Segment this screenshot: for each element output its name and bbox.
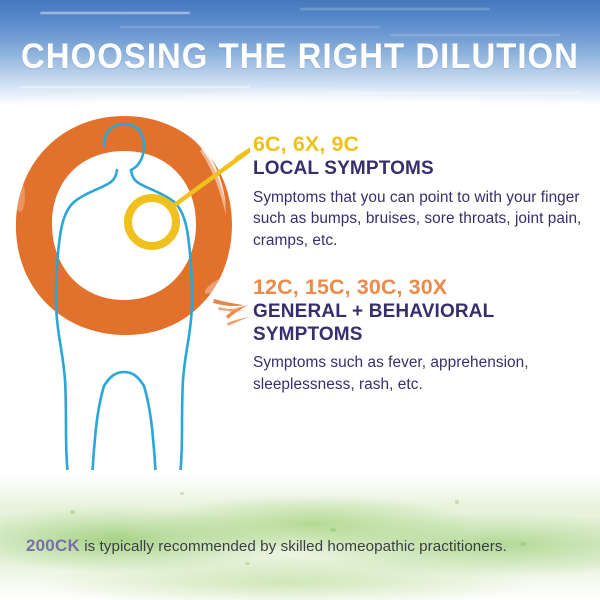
yellow-highlight-circle-on-shoulder [128,198,176,246]
symptom-category-title-local: LOCAL SYMPTOMS [253,158,589,181]
orange-brush-tick [226,305,249,326]
green-speck [180,492,184,495]
dilution-values-general: 12C, 15C, 30C, 30X [253,275,589,300]
footer-green-band [0,470,600,600]
header-cloud-streak [40,12,190,14]
footer-dilution-value: 200CK [26,536,80,555]
header-banner: CHOOSING THE RIGHT DILUTION [0,0,600,104]
green-speck [330,528,336,532]
green-speck [455,500,459,504]
symptom-description-general: Symptoms such as fever, apprehension, sl… [253,352,589,395]
footer-note-text: is typically recommended by skilled home… [80,538,507,555]
footer-note: 200CK is typically recommended by skille… [26,536,586,557]
symptom-description-local: Symptoms that you can point to with your… [253,187,589,252]
dilution-blocks: 6C, 6X, 9C LOCAL SYMPTOMS Symptoms that … [253,132,589,395]
header-cloud-streak [300,8,490,10]
infographic-root: CHOOSING THE RIGHT DILUTION [0,0,600,600]
dilution-block-local: 6C, 6X, 9C LOCAL SYMPTOMS Symptoms that … [253,132,589,251]
symptom-category-title-general: GENERAL + BEHAVIORAL SYMPTOMS [253,301,589,346]
header-cloud-streak [390,34,560,36]
green-speck [70,510,75,514]
page-title: CHOOSING THE RIGHT DILUTION [18,38,582,76]
green-speck [245,562,250,565]
header-cloud-streak [120,26,380,28]
dilution-block-general: 12C, 15C, 30C, 30X GENERAL + BEHAVIORAL … [253,275,589,395]
dilution-values-local: 6C, 6X, 9C [253,132,589,157]
